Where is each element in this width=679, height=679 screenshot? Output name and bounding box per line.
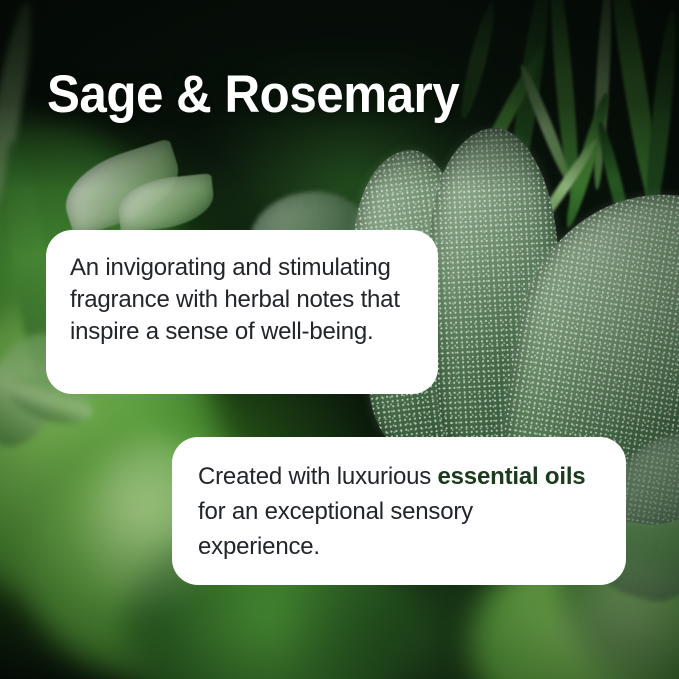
fragrance-description-text: An invigorating and stimulating fragranc… — [70, 252, 412, 348]
fragrance-description-card: An invigorating and stimulating fragranc… — [46, 230, 438, 394]
product-feature-banner: Sage & Rosemary An invigorating and stim… — [0, 0, 679, 679]
essential-oils-highlight: essential oils — [438, 463, 586, 490]
page-title: Sage & Rosemary — [47, 65, 459, 125]
essential-oils-text-after: for an exceptional sensory experience. — [198, 498, 473, 560]
essential-oils-description-card: Created with luxurious essential oils fo… — [172, 437, 626, 585]
essential-oils-description-text: Created with luxurious essential oils fo… — [198, 459, 598, 564]
essential-oils-text-before: Created with luxurious — [198, 463, 438, 490]
